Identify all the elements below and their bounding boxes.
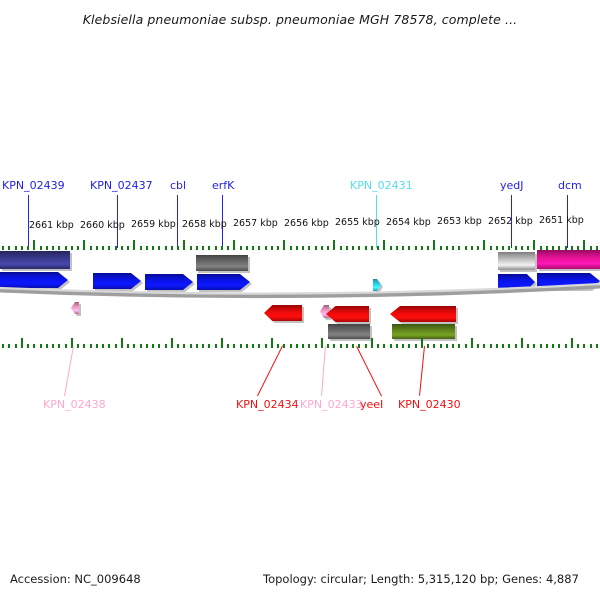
arrow-kpn02439[interactable] <box>0 272 68 288</box>
ruler-tick <box>308 246 310 250</box>
feature-body <box>145 274 193 290</box>
ruler-tick <box>221 246 223 250</box>
ruler-tick <box>565 344 567 348</box>
ruler-tick <box>508 246 510 250</box>
ruler-tick <box>158 344 160 348</box>
ruler-tick <box>271 338 273 348</box>
ruler-tick <box>265 344 267 348</box>
ruler-tick <box>158 246 160 250</box>
ruler-tick <box>102 246 104 250</box>
ruler-tick <box>177 246 179 250</box>
ruler-tick <box>383 344 385 348</box>
ruler-tick <box>365 344 367 348</box>
ruler-tick <box>40 246 42 250</box>
ruler-tick <box>221 338 223 348</box>
ruler-tick <box>27 246 29 250</box>
ruler-tick <box>115 246 117 250</box>
tick-strip-reverse <box>0 336 600 348</box>
arrow-yedj[interactable] <box>498 274 535 290</box>
ruler-tick <box>227 344 229 348</box>
ruler-tick <box>215 344 217 348</box>
ruler-tick <box>83 240 85 250</box>
ruler-tick <box>165 344 167 348</box>
ruler-tick <box>533 240 535 250</box>
ruler-tick <box>471 246 473 250</box>
ruler-tick <box>408 344 410 348</box>
ruler-tick <box>302 344 304 348</box>
ruler-tick <box>440 344 442 348</box>
ruler-label: 2660 kbp <box>80 220 125 231</box>
ruler-tick <box>65 246 67 250</box>
ruler-tick <box>190 344 192 348</box>
ruler-tick <box>233 344 235 348</box>
ruler-tick <box>352 344 354 348</box>
genome-map-canvas: KPN_02439KPN_02437cblerfKKPN_02431yedJdc… <box>0 170 600 420</box>
ruler-tick <box>471 338 473 348</box>
ruler-tick <box>502 246 504 250</box>
ruler-tick <box>483 240 485 250</box>
ruler-tick <box>46 246 48 250</box>
ruler-label: 2658 kbp <box>182 219 227 230</box>
page-title: Klebsiella pneumoniae subsp. pneumoniae … <box>0 12 600 27</box>
arrow-dcm[interactable] <box>537 273 600 289</box>
ruler-tick <box>252 344 254 348</box>
ruler-tick <box>265 246 267 250</box>
ruler-tick <box>33 344 35 348</box>
ruler-tick <box>15 344 17 348</box>
leader-line <box>321 346 326 396</box>
ruler-tick <box>390 344 392 348</box>
leader-line <box>356 346 382 396</box>
ruler-tick <box>377 246 379 250</box>
ruler-tick <box>183 344 185 348</box>
ruler-tick <box>390 246 392 250</box>
ruler-tick <box>452 246 454 250</box>
ruler-tick <box>58 246 60 250</box>
ruler-tick <box>152 344 154 348</box>
ruler-label: 2659 kbp <box>131 219 176 230</box>
ruler-tick <box>65 344 67 348</box>
ruler-tick <box>233 240 235 250</box>
ruler-tick <box>127 246 129 250</box>
ruler-tick <box>152 246 154 250</box>
ruler-tick <box>96 246 98 250</box>
ruler-tick <box>15 246 17 250</box>
ruler-tick <box>490 246 492 250</box>
ruler-tick <box>52 246 54 250</box>
ruler-tick <box>33 240 35 250</box>
ruler-tick <box>383 240 385 250</box>
ruler-tick <box>440 246 442 250</box>
ruler-label: 2656 kbp <box>284 218 329 229</box>
ruler-tick <box>240 344 242 348</box>
feature-body <box>196 255 248 271</box>
gene-label-kpn-02437[interactable]: KPN_02437 <box>90 180 153 191</box>
ruler-tick <box>433 344 435 348</box>
ruler-tick <box>508 344 510 348</box>
ruler-tick <box>133 344 135 348</box>
ruler-tick <box>52 344 54 348</box>
ruler-tick <box>458 344 460 348</box>
ruler-tick <box>421 246 423 250</box>
ruler-tick <box>240 246 242 250</box>
ruler-tick <box>458 246 460 250</box>
feature-body <box>197 274 250 290</box>
ruler-tick <box>21 338 23 348</box>
ruler-tick <box>371 246 373 250</box>
ruler-tick <box>290 246 292 250</box>
ruler-tick <box>283 240 285 250</box>
ruler-tick <box>46 344 48 348</box>
navy-box-kpn02439[interactable] <box>0 251 70 269</box>
ruler-tick <box>421 338 423 348</box>
arrow-kpn02431[interactable] <box>373 279 381 291</box>
ruler-tick <box>177 344 179 348</box>
ruler-tick <box>333 240 335 250</box>
ruler-tick <box>490 344 492 348</box>
ruler-tick <box>208 344 210 348</box>
arrow-yeei[interactable] <box>326 306 369 322</box>
gene-label-yedj[interactable]: yedJ <box>500 180 524 191</box>
ruler-tick <box>96 344 98 348</box>
ruler-tick <box>427 246 429 250</box>
ruler-tick <box>140 246 142 250</box>
arrow-kpn02437[interactable] <box>93 273 141 289</box>
ruler-tick <box>396 344 398 348</box>
ruler-tick <box>583 344 585 348</box>
ruler-tick <box>415 246 417 250</box>
ruler-tick <box>452 344 454 348</box>
gene-label-kpn-02430[interactable]: KPN_02430 <box>398 399 461 410</box>
ruler-tick <box>8 344 10 348</box>
ruler-tick <box>277 246 279 250</box>
ruler-tick <box>246 344 248 348</box>
ruler-tick <box>496 246 498 250</box>
ruler-tick <box>290 344 292 348</box>
feature-body <box>537 273 600 289</box>
ruler-tick <box>202 344 204 348</box>
ruler-tick <box>477 344 479 348</box>
ruler-tick <box>327 246 329 250</box>
feature-body <box>390 306 456 322</box>
ruler-tick <box>58 344 60 348</box>
gene-label-erfk[interactable]: erfK <box>212 180 234 191</box>
gene-label-cbl[interactable]: cbl <box>170 180 186 191</box>
light-gray-box-yedj[interactable] <box>498 252 535 270</box>
ruler-label: 2652 kbp <box>488 216 533 227</box>
ruler-tick <box>371 338 373 348</box>
ruler-tick <box>427 344 429 348</box>
ruler-tick <box>596 344 598 348</box>
ruler-tick <box>515 246 517 250</box>
accession-text: Accession: NC_009648 <box>10 572 141 586</box>
ruler-tick <box>402 246 404 250</box>
ruler-tick <box>208 246 210 250</box>
ruler-tick <box>21 246 23 250</box>
ruler-tick <box>396 246 398 250</box>
ruler-tick <box>515 344 517 348</box>
gene-label-kpn-02439[interactable]: KPN_02439 <box>2 180 65 191</box>
genome-backbone <box>0 170 600 420</box>
ruler-tick <box>77 246 79 250</box>
ruler-tick <box>477 246 479 250</box>
gray-box-erfk[interactable] <box>196 255 248 271</box>
ruler-label: 2654 kbp <box>386 217 431 228</box>
ruler-tick <box>2 246 4 250</box>
ruler-tick <box>446 246 448 250</box>
gene-label-kpn-02433[interactable]: KPN_02433 <box>300 399 363 410</box>
feature-body <box>0 251 70 269</box>
ruler-tick <box>71 246 73 250</box>
ruler-tick <box>527 344 529 348</box>
ruler-tick <box>333 344 335 348</box>
arrow-cbl[interactable] <box>145 274 193 290</box>
ruler-tick <box>127 344 129 348</box>
arrow-kpn02438[interactable] <box>71 302 79 314</box>
feature-body <box>537 250 600 269</box>
leader-line <box>257 346 283 396</box>
ruler-tick <box>346 344 348 348</box>
ruler-label: 2661 kbp <box>29 220 74 231</box>
ruler-tick <box>577 344 579 348</box>
leader-line <box>419 346 425 396</box>
ruler-tick <box>583 240 585 250</box>
ruler-tick <box>108 246 110 250</box>
ruler-tick <box>258 246 260 250</box>
ruler-label: 2653 kbp <box>437 216 482 227</box>
ruler-tick <box>171 246 173 250</box>
ruler-tick <box>227 246 229 250</box>
gene-label-kpn-02431[interactable]: KPN_02431 <box>350 180 413 191</box>
ruler-tick <box>83 344 85 348</box>
ruler-tick <box>133 240 135 250</box>
ruler-tick <box>165 246 167 250</box>
ruler-tick <box>146 344 148 348</box>
ruler-tick <box>340 246 342 250</box>
ruler-tick <box>321 246 323 250</box>
ruler-tick <box>246 246 248 250</box>
genome-stats-text: Topology: circular; Length: 5,315,120 bp… <box>263 572 579 586</box>
ruler-tick <box>521 338 523 348</box>
ruler-tick <box>296 246 298 250</box>
feature-body <box>71 302 79 314</box>
ruler-tick <box>115 344 117 348</box>
ruler-tick <box>258 344 260 348</box>
ruler-tick <box>408 246 410 250</box>
ruler-tick <box>302 246 304 250</box>
ruler-tick <box>483 344 485 348</box>
ruler-tick <box>283 344 285 348</box>
gene-label-dcm[interactable]: dcm <box>558 180 582 191</box>
ruler-tick <box>2 344 4 348</box>
ruler-tick <box>215 246 217 250</box>
arrow-kpn02430[interactable] <box>390 306 456 322</box>
ruler-tick <box>465 246 467 250</box>
ruler-tick <box>146 246 148 250</box>
arrow-erfk[interactable] <box>197 274 250 290</box>
ruler-tick <box>358 344 360 348</box>
ruler-tick <box>27 344 29 348</box>
ruler-tick <box>271 246 273 250</box>
ruler-tick <box>552 344 554 348</box>
ruler-tick <box>121 246 123 250</box>
gene-label-yeei[interactable]: yeeI <box>360 399 383 410</box>
ruler-tick <box>502 344 504 348</box>
ruler-tick <box>40 344 42 348</box>
ruler-tick <box>558 344 560 348</box>
feature-body <box>498 252 535 270</box>
ruler-label: 2657 kbp <box>233 218 278 229</box>
ruler-label: 2655 kbp <box>335 217 380 228</box>
ruler-tick <box>352 246 354 250</box>
ruler-tick <box>190 246 192 250</box>
ruler-tick <box>540 344 542 348</box>
ruler-tick <box>171 338 173 348</box>
ruler-tick <box>296 344 298 348</box>
ruler-tick <box>121 338 123 348</box>
ruler-tick <box>315 246 317 250</box>
ruler-tick <box>8 246 10 250</box>
ruler-tick <box>321 338 323 348</box>
ruler-tick <box>308 344 310 348</box>
ruler-tick <box>102 344 104 348</box>
ruler-tick <box>90 246 92 250</box>
ruler-tick <box>527 246 529 250</box>
ruler-tick <box>90 344 92 348</box>
ruler-label: 2651 kbp <box>539 215 584 226</box>
genome-map-viewer: Klebsiella pneumoniae subsp. pneumoniae … <box>0 0 600 600</box>
tick-strip-forward <box>0 238 600 250</box>
ruler-tick <box>590 344 592 348</box>
ruler-tick <box>533 344 535 348</box>
magenta-box-dcm[interactable] <box>537 250 600 269</box>
arrow-kpn02434[interactable] <box>264 305 302 321</box>
ruler-tick <box>196 246 198 250</box>
ruler-tick <box>446 344 448 348</box>
ruler-tick <box>365 246 367 250</box>
ruler-tick <box>358 246 360 250</box>
ruler-tick <box>196 344 198 348</box>
ruler-tick <box>77 344 79 348</box>
ruler-tick <box>327 344 329 348</box>
gene-label-kpn-02434[interactable]: KPN_02434 <box>236 399 299 410</box>
feature-body <box>264 305 302 321</box>
gene-label-kpn-02438[interactable]: KPN_02438 <box>43 399 106 410</box>
ruler-tick <box>252 246 254 250</box>
ruler-tick <box>465 344 467 348</box>
ruler-tick <box>377 344 379 348</box>
ruler-tick <box>315 344 317 348</box>
ruler-tick <box>546 344 548 348</box>
ruler-tick <box>202 246 204 250</box>
ruler-tick <box>140 344 142 348</box>
ruler-tick <box>496 344 498 348</box>
ruler-tick <box>277 344 279 348</box>
ruler-tick <box>346 246 348 250</box>
ruler-tick <box>415 344 417 348</box>
leader-line <box>64 346 74 396</box>
ruler-tick <box>108 344 110 348</box>
feature-body <box>0 272 68 288</box>
feature-body <box>93 273 141 289</box>
ruler-tick <box>183 240 185 250</box>
ruler-tick <box>402 344 404 348</box>
ruler-tick <box>340 344 342 348</box>
ruler-tick <box>521 246 523 250</box>
ruler-tick <box>433 240 435 250</box>
ruler-tick <box>571 338 573 348</box>
